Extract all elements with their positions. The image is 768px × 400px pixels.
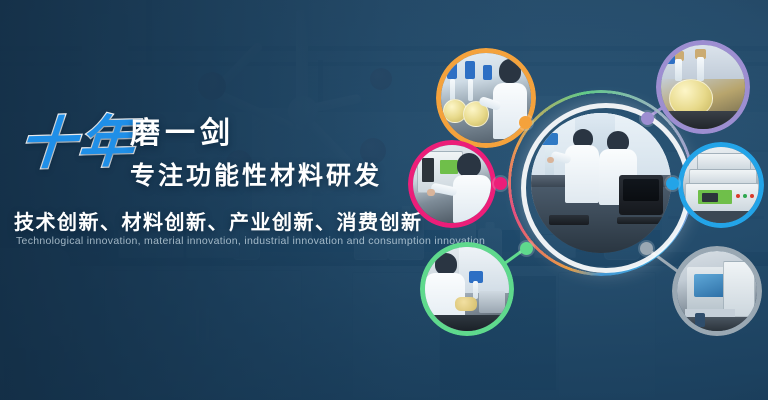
- photo-sample-preparation: [425, 247, 509, 331]
- headline-main: 磨一剑: [130, 108, 235, 152]
- node-bottom-left: [520, 242, 533, 255]
- satellite-right: [678, 142, 764, 228]
- headline-subtitle: 专注功能性材料研发: [130, 156, 382, 192]
- photo-analysis-workstation: [677, 251, 757, 331]
- photo-coating-machine: [683, 147, 759, 223]
- center-photo-lab-team: [531, 113, 671, 253]
- headline-text-block: 十年 磨一剑 专注功能性材料研发 技术创新、材料创新、产业创新、消费创新 Tec…: [12, 104, 372, 164]
- node-left: [494, 177, 507, 190]
- satellite-top-left: [436, 48, 536, 148]
- satellite-bottom-right: [672, 246, 762, 336]
- keyboard: [617, 217, 663, 224]
- satellite-left: [408, 140, 496, 228]
- headline-row: 十年 磨一剑: [12, 104, 372, 164]
- headline-calligraphy: 十年: [17, 96, 140, 180]
- node-top-left: [519, 116, 532, 129]
- tagline-chinese: 技术创新、材料创新、产业创新、消费创新: [14, 206, 423, 235]
- satellite-top-right: [656, 40, 750, 134]
- node-top-right: [641, 112, 654, 125]
- photo-chemical-synthesis: [441, 53, 531, 143]
- node-right: [666, 177, 679, 190]
- node-bottom-right: [640, 242, 653, 255]
- computer-monitor: [619, 175, 663, 215]
- photo-precision-test: [413, 145, 491, 223]
- photo-reaction-flask: [661, 45, 745, 129]
- promotional-banner: 十年 磨一剑 专注功能性材料研发 技术创新、材料创新、产业创新、消费创新 Tec…: [0, 0, 768, 400]
- mousepad: [549, 215, 589, 225]
- circular-photo-collage: [400, 30, 768, 390]
- satellite-bottom-left: [420, 242, 514, 336]
